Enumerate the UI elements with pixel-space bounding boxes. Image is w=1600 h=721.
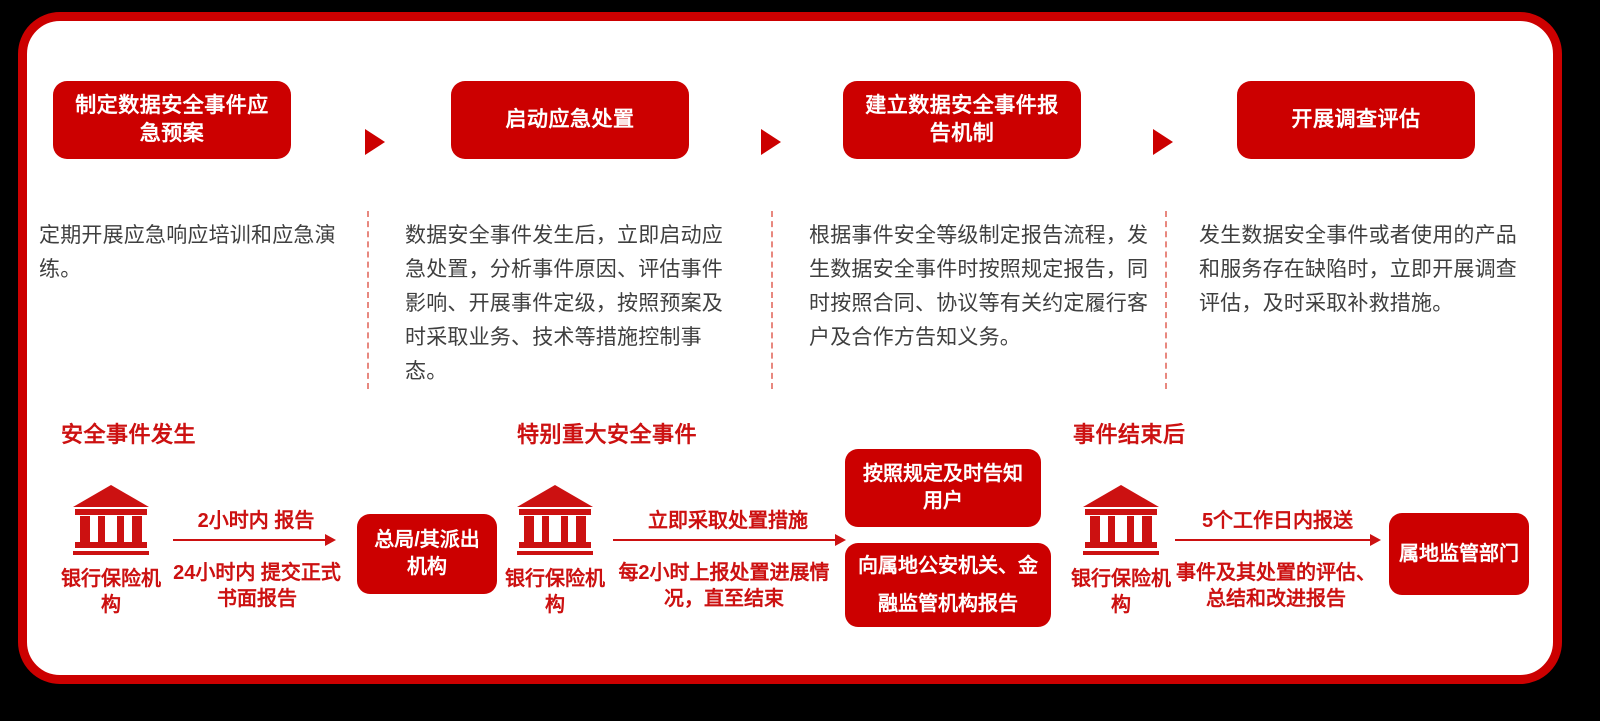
arrow-label-above-3: 5个工作日内报送	[1175, 508, 1380, 534]
outer-frame: 制定数据安全事件应急预案 启动应急处置 建立数据安全事件报告机制 开展调查评估 …	[18, 12, 1562, 684]
step-title-2[interactable]: 启动应急处置	[451, 81, 689, 159]
target-box-2-2[interactable]: 向属地公安机关、金融监管机构报告	[845, 543, 1051, 627]
bank-label-1: 银行保险机构	[56, 566, 166, 618]
target-box-3-1[interactable]: 属地监管部门	[1389, 513, 1529, 595]
step-title-1[interactable]: 制定数据安全事件应急预案	[53, 81, 291, 159]
step-desc-4: 发生数据安全事件或者使用的产品和服务存在缺陷时，立即开展调查评估，及时采取补救措…	[1199, 219, 1535, 321]
top-step-1: 制定数据安全事件应急预案	[41, 81, 421, 159]
arrow-label-below-1: 24小时内 提交正式书面报告	[167, 560, 347, 613]
top-step-4: 开展调查评估	[1223, 81, 1600, 159]
arrow-label-above-1: 2小时内 报告	[173, 508, 339, 534]
play-triangle-icon-2	[761, 129, 781, 155]
divider-2	[771, 211, 773, 389]
bank-label-3: 银行保险机构	[1066, 566, 1176, 618]
group-title-1: 安全事件发生	[61, 417, 196, 449]
bank-label-2: 银行保险机构	[500, 566, 610, 618]
play-triangle-icon-1	[365, 129, 385, 155]
divider-3	[1165, 211, 1167, 389]
step-desc-3: 根据事件安全等级制定报告流程，发生数据安全事件时按照规定报告，同时按照合同、协议…	[809, 219, 1149, 355]
top-step-3: 建立数据安全事件报告机制	[827, 81, 1207, 159]
diagram-canvas: 制定数据安全事件应急预案 启动应急处置 建立数据安全事件报告机制 开展调查评估 …	[0, 0, 1600, 721]
play-triangle-icon-3	[1153, 129, 1173, 155]
target-box-1-1[interactable]: 总局/其派出机构	[357, 514, 497, 594]
arrow-label-below-2: 每2小时上报处置进展情况，直至结束	[609, 560, 839, 613]
bank-icon-3	[1080, 483, 1162, 560]
group-title-3: 事件结束后	[1073, 417, 1186, 449]
top-step-2: 启动应急处置	[429, 81, 809, 159]
arrow-label-above-2: 立即采取处置措施	[613, 508, 843, 534]
divider-1	[367, 211, 369, 389]
group-title-2: 特别重大安全事件	[517, 417, 697, 449]
bank-icon-2	[514, 483, 596, 560]
diagram-content: 制定数据安全事件应急预案 启动应急处置 建立数据安全事件报告机制 开展调查评估 …	[27, 21, 1553, 675]
step-title-4[interactable]: 开展调查评估	[1237, 81, 1475, 159]
step-desc-1: 定期开展应急响应培训和应急演练。	[39, 219, 339, 287]
step-desc-2: 数据安全事件发生后，立即启动应急处置，分析事件原因、评估事件影响、开展事件定级，…	[405, 219, 735, 389]
step-title-3[interactable]: 建立数据安全事件报告机制	[843, 81, 1081, 159]
arrow-label-below-3: 事件及其处置的评估、总结和改进报告	[1167, 560, 1385, 613]
target-box-2-1[interactable]: 按照规定及时告知用户	[845, 449, 1041, 527]
bank-icon-1	[70, 483, 152, 560]
